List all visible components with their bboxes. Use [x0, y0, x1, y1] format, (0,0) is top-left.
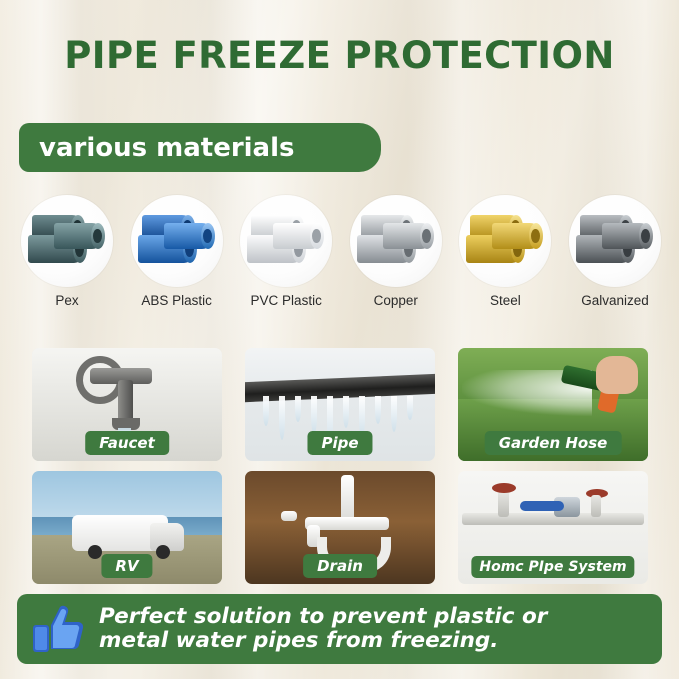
material-item-steel: Steel [455, 195, 555, 308]
home-main-pipe-icon [462, 513, 644, 525]
scenario-label: Faucet [85, 431, 169, 455]
pipe-bundle-icon [357, 213, 435, 269]
material-thumbnail-galvanized [569, 195, 661, 287]
icicle-icon [343, 396, 349, 428]
material-label: ABS Plastic [127, 293, 227, 308]
hand-icon [596, 356, 638, 394]
footer-line-2: metal water pipes from freezing. [99, 629, 547, 653]
material-thumbnail-abs-plastic [131, 195, 223, 287]
material-thumbnail-pex [21, 195, 113, 287]
home-riser-pipe-icon [591, 495, 601, 517]
material-thumbnail-pvc-plastic [240, 195, 332, 287]
page-title: PIPE FREEZE PROTECTION [0, 34, 679, 77]
material-label: Copper [346, 293, 446, 308]
drain-fitting-icon [281, 511, 297, 521]
scenario-label: Drain [303, 554, 377, 578]
scenario-label: RV [101, 554, 152, 578]
material-item-galvanized: Galvanized [565, 195, 665, 308]
material-label: Steel [455, 293, 555, 308]
footer-text: Perfect solution to prevent plastic or m… [99, 605, 547, 653]
faucet-neck-icon [118, 380, 133, 422]
thumbs-up-icon [31, 601, 87, 657]
poster: PIPE FREEZE PROTECTION various materials [0, 0, 679, 679]
scenario-label: Homc PIpe System [471, 556, 634, 578]
scenario-grid: Faucet Pipe Garden Hose [32, 348, 649, 584]
scenario-cell-pipe: Pipe [245, 348, 435, 461]
material-item-abs-plastic: ABS Plastic [127, 195, 227, 308]
material-item-pex: Pex [17, 195, 117, 308]
scenario-cell-rv: RV [32, 471, 222, 584]
icicle-icon [279, 396, 285, 440]
rv-wheel-icon [156, 545, 170, 559]
rv-wheel-icon [88, 545, 102, 559]
scenario-cell-drain: Drain [245, 471, 435, 584]
scenario-label: Garden Hose [485, 431, 622, 455]
material-item-pvc-plastic: PVC Plastic [236, 195, 336, 308]
materials-row: Pex ABS [17, 195, 665, 308]
pipe-bundle-icon [28, 213, 106, 269]
section-pill-label: various materials [39, 133, 295, 163]
scenario-cell-garden-hose: Garden Hose [458, 348, 648, 461]
icicle-icon [391, 396, 397, 432]
scenario-cell-home-pipe-system: Homc PIpe System [458, 471, 648, 584]
material-label: Galvanized [565, 293, 665, 308]
footer-banner: Perfect solution to prevent plastic or m… [17, 594, 662, 664]
pipe-bundle-icon [247, 213, 325, 269]
scenario-label: Pipe [307, 431, 372, 455]
scenario-cell-faucet: Faucet [32, 348, 222, 461]
pipe-bundle-icon [466, 213, 544, 269]
section-pill: various materials [19, 123, 381, 172]
material-label: PVC Plastic [236, 293, 336, 308]
icicle-icon [311, 396, 317, 434]
pipe-bundle-icon [138, 213, 216, 269]
footer-line-1: Perfect solution to prevent plastic or [99, 605, 547, 629]
home-riser-pipe-icon [498, 491, 509, 517]
icicle-icon [407, 396, 413, 420]
icicle-icon [295, 396, 301, 422]
blue-connector-icon [520, 501, 564, 511]
icicle-icon [263, 396, 269, 426]
valve-handle-icon [492, 483, 516, 493]
material-thumbnail-copper [350, 195, 442, 287]
icicle-icon [375, 396, 381, 424]
pipe-bundle-icon [576, 213, 654, 269]
material-thumbnail-steel [459, 195, 551, 287]
material-item-copper: Copper [346, 195, 446, 308]
material-label: Pex [17, 293, 117, 308]
